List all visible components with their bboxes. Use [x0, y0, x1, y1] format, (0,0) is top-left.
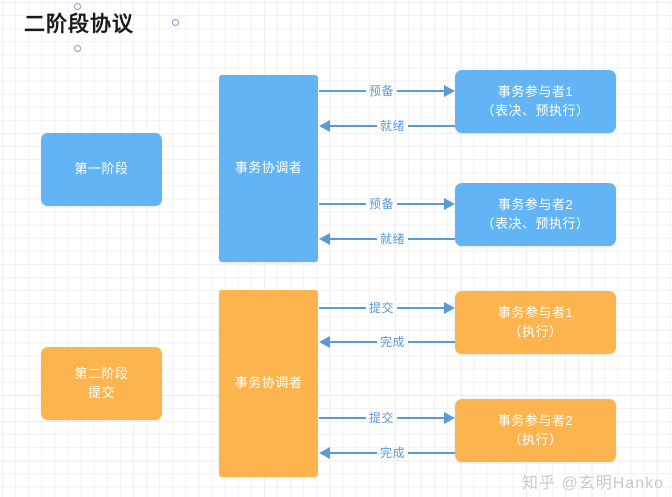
- phase-one-participant-2-label: 事务参与者2 （表决、预执行）: [481, 196, 589, 234]
- phase-one-coordinator-label: 事务协调者: [235, 159, 303, 178]
- phase-two-participant-2-label: 事务参与者2 （执行）: [498, 412, 573, 450]
- phase-one-message-2-label: 就绪: [377, 120, 408, 132]
- connector-line: [330, 125, 377, 127]
- phase-one-label: 第一阶段: [74, 160, 128, 179]
- page-title: 二阶段协议: [24, 8, 134, 38]
- phase-two-label-box[interactable]: 第二阶段 提交: [41, 347, 162, 420]
- phase-two-message-4-label: 完成: [377, 447, 408, 459]
- connector-line: [408, 341, 455, 343]
- phase-one-message-3-prepare: 预备: [319, 196, 455, 212]
- arrow-left-icon: [319, 447, 330, 459]
- connector-line: [408, 125, 455, 127]
- phase-two-label: 第二阶段 提交: [74, 365, 128, 403]
- phase-two-message-1-label: 提交: [366, 302, 397, 314]
- selection-handle-top[interactable]: [74, 3, 81, 10]
- connector-line: [397, 203, 444, 205]
- phase-one-message-1-prepare: 预备: [319, 83, 455, 99]
- connector-line: [319, 417, 366, 419]
- connector-line: [319, 307, 366, 309]
- connector-line: [397, 307, 444, 309]
- phase-one-message-4-ready: 就绪: [319, 231, 455, 247]
- phase-two-message-1-commit: 提交: [319, 300, 455, 316]
- diagram-canvas: 二阶段协议 第一阶段 事务协调者 事务参与者1 （表决、预执行） 事务参与者2 …: [0, 0, 672, 497]
- phase-one-message-2-ready: 就绪: [319, 118, 455, 134]
- phase-one-participant-2-box[interactable]: 事务参与者2 （表决、预执行）: [455, 183, 616, 246]
- phase-two-message-3-label: 提交: [366, 412, 397, 424]
- phase-one-message-4-label: 就绪: [377, 233, 408, 245]
- connector-line: [319, 90, 366, 92]
- connector-line: [330, 238, 377, 240]
- phase-two-coordinator-box[interactable]: 事务协调者: [219, 290, 318, 477]
- phase-two-message-2-label: 完成: [377, 336, 408, 348]
- selection-handle-bottom[interactable]: [74, 45, 81, 52]
- connector-line: [330, 341, 377, 343]
- phase-one-message-3-label: 预备: [366, 198, 397, 210]
- connector-line: [408, 238, 455, 240]
- phase-two-message-3-commit: 提交: [319, 410, 455, 426]
- phase-one-message-1-label: 预备: [366, 85, 397, 97]
- phase-one-coordinator-box[interactable]: 事务协调者: [219, 75, 318, 262]
- phase-two-participant-1-box[interactable]: 事务参与者1 （执行）: [455, 291, 616, 354]
- phase-one-label-box[interactable]: 第一阶段: [41, 133, 162, 206]
- arrow-left-icon: [319, 120, 330, 132]
- arrow-left-icon: [319, 233, 330, 245]
- connector-line: [319, 203, 366, 205]
- phase-one-participant-1-label: 事务参与者1 （表决、预执行）: [481, 83, 589, 121]
- phase-one-participant-1-box[interactable]: 事务参与者1 （表决、预执行）: [455, 70, 616, 133]
- connector-line: [397, 90, 444, 92]
- connector-line: [408, 452, 455, 454]
- phase-two-participant-1-label: 事务参与者1 （执行）: [498, 304, 573, 342]
- arrow-right-icon: [444, 412, 455, 424]
- phase-two-message-4-complete: 完成: [319, 445, 455, 461]
- selection-handle-right[interactable]: [172, 19, 179, 26]
- connector-line: [330, 452, 377, 454]
- phase-two-participant-2-box[interactable]: 事务参与者2 （执行）: [455, 399, 616, 462]
- phase-two-message-2-complete: 完成: [319, 334, 455, 350]
- watermark: 知乎 @玄明Hanko: [522, 469, 664, 493]
- arrow-right-icon: [444, 198, 455, 210]
- arrow-right-icon: [444, 85, 455, 97]
- arrow-right-icon: [444, 302, 455, 314]
- phase-two-coordinator-label: 事务协调者: [235, 374, 303, 393]
- connector-line: [397, 417, 444, 419]
- arrow-left-icon: [319, 336, 330, 348]
